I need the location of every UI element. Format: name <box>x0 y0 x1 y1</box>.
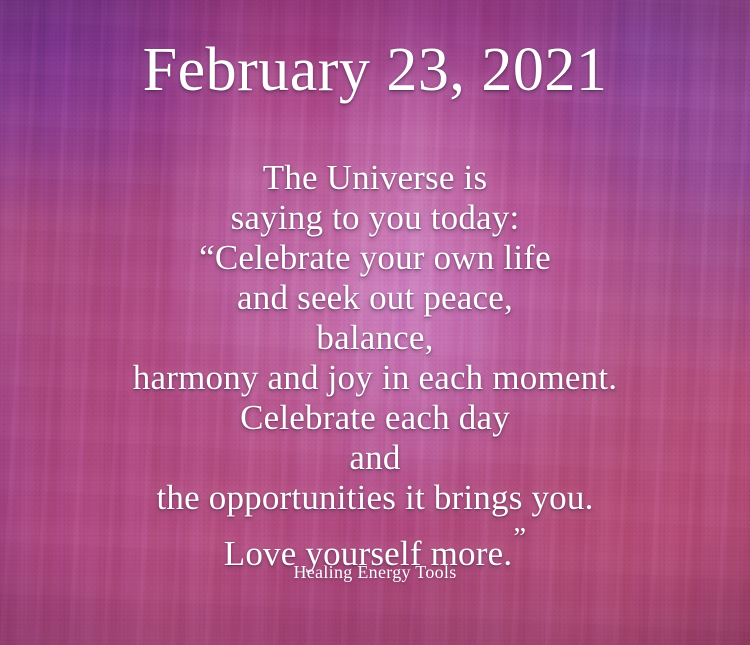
quote-line: and seek out peace, <box>0 278 750 318</box>
quote-text-block: The Universe is saying to you today: “Ce… <box>0 158 750 574</box>
closing-quotation-mark: ” <box>513 522 526 554</box>
quote-line: Celebrate each day <box>0 398 750 438</box>
poster-content: February 23, 2021 The Universe is saying… <box>0 0 750 645</box>
quote-line: The Universe is <box>0 158 750 198</box>
quote-line: harmony and joy in each moment. <box>0 358 750 398</box>
quote-line: saying to you today: <box>0 198 750 238</box>
quote-line: the opportunities it brings you. <box>0 478 750 518</box>
date-title: February 23, 2021 <box>0 39 750 101</box>
quote-line: and <box>0 438 750 478</box>
quote-line: balance, <box>0 318 750 358</box>
attribution-credit: Healing Energy Tools <box>0 561 750 583</box>
inspirational-quote-poster: February 23, 2021 The Universe is saying… <box>0 0 750 645</box>
quote-line: “Celebrate your own life <box>0 238 750 278</box>
